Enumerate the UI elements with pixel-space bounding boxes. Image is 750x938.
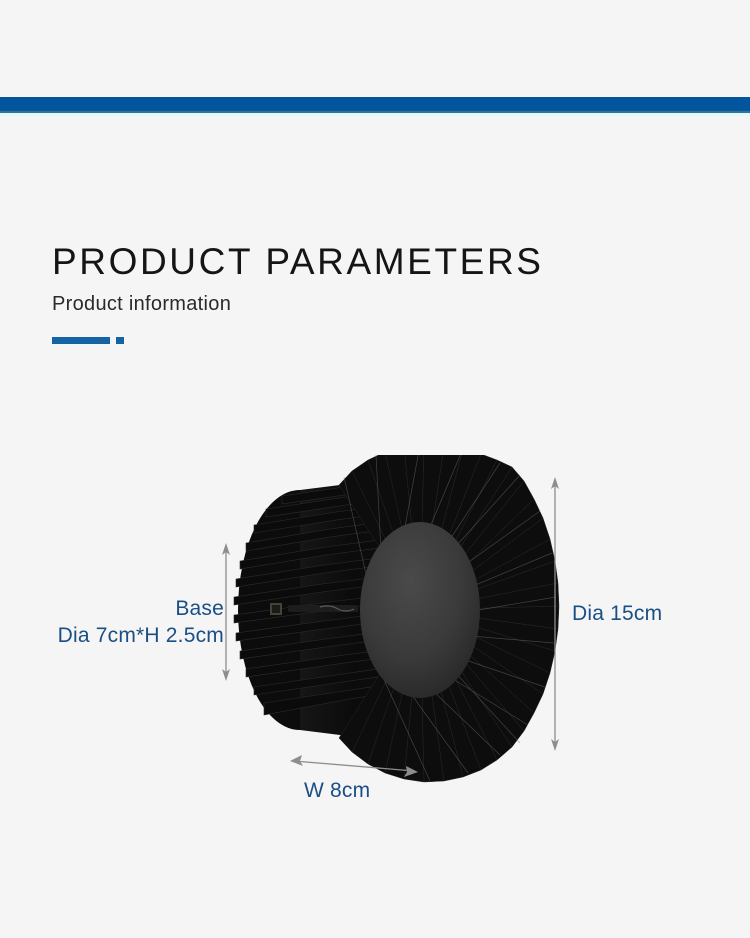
lamp-lens	[360, 522, 480, 698]
top-accent-bar-fill	[0, 97, 750, 111]
dimension-label-diameter: Dia 15cm	[572, 600, 662, 627]
heading-underline	[52, 337, 692, 344]
dimension-base-line1: Base	[0, 595, 224, 622]
dimension-label-width: W 8cm	[304, 777, 370, 804]
underline-bar	[52, 337, 110, 344]
top-accent-bar	[0, 97, 750, 113]
dimension-base-line2: Dia 7cm*H 2.5cm	[0, 622, 224, 649]
underline-dot	[116, 337, 124, 344]
dimension-label-base: Base Dia 7cm*H 2.5cm	[0, 595, 224, 649]
page-title: PRODUCT PARAMETERS	[52, 240, 692, 284]
page-subtitle: Product information	[52, 291, 692, 317]
section-heading: PRODUCT PARAMETERS Product information	[52, 240, 692, 344]
heatsink-body	[234, 455, 559, 782]
top-accent-bar-glow	[0, 113, 750, 117]
